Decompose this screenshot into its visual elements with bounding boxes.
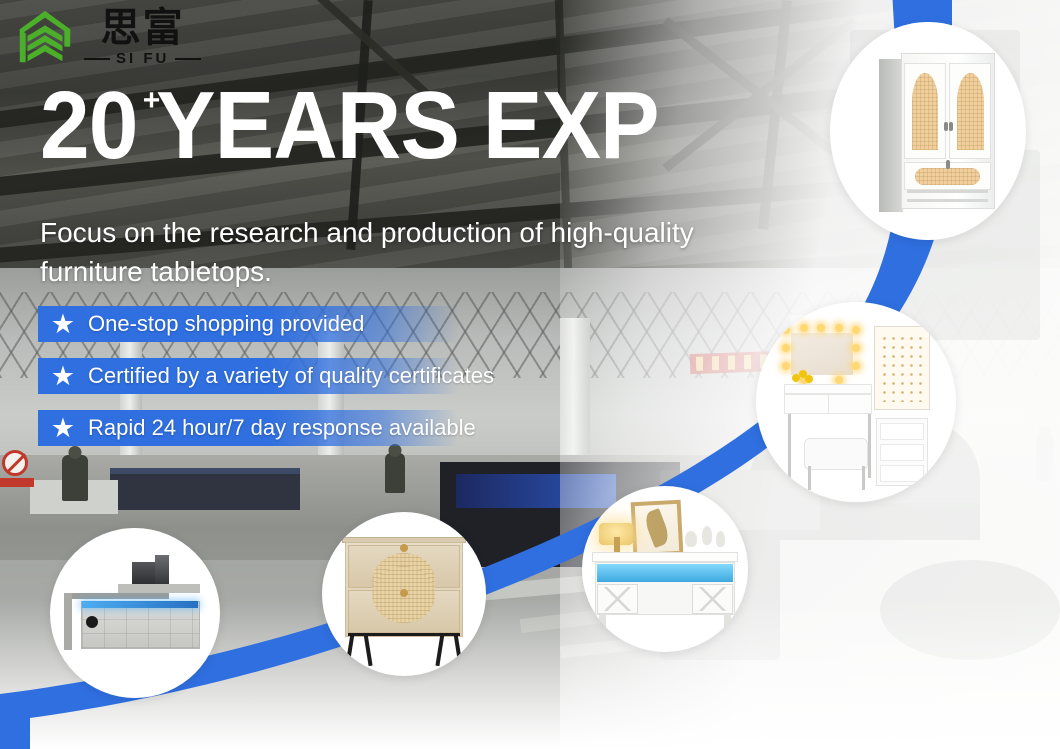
white-farmhouse-tv-stand-image [582, 486, 748, 652]
feature-item: ★ One-stop shopping provided [38, 306, 658, 342]
brand-name-en-row: SI FU [84, 51, 201, 66]
feature-label: Certified by a variety of quality certif… [88, 363, 494, 389]
product-circle-vanity[interactable] [756, 302, 956, 502]
feature-label: One-stop shopping provided [88, 311, 364, 337]
promo-banner: 思富 SI FU 20 + YEARS EXP Focus on the res… [0, 0, 1060, 749]
headline-number: 20 [40, 82, 137, 170]
star-icon: ★ [46, 415, 80, 442]
wordmark-dash-left [84, 58, 110, 60]
brand-name-cn: 思富 [101, 8, 185, 48]
rattan-shoe-cabinet-image [322, 512, 486, 676]
feature-item: ★ Certified by a variety of quality cert… [38, 358, 658, 394]
product-circle-shoe-cabinet[interactable] [322, 512, 486, 676]
wordmark-dash-right [175, 58, 201, 60]
white-rattan-wardrobe-image [830, 22, 1026, 240]
headline: 20 + YEARS EXP [40, 82, 697, 170]
feature-label: Rapid 24 hour/7 day response available [88, 415, 476, 441]
subtitle: Focus on the research and production of … [40, 214, 780, 291]
product-circle-tv-stand[interactable] [582, 486, 748, 652]
feature-item: ★ Rapid 24 hour/7 day response available [38, 410, 658, 446]
concrete-grey-led-sideboard-image [50, 528, 220, 698]
brand-wordmark: 思富 SI FU [84, 8, 201, 66]
brand-name-en: SI FU [116, 51, 169, 66]
headline-words: YEARS EXP [156, 82, 659, 170]
star-icon: ★ [46, 311, 80, 338]
feature-list: ★ One-stop shopping provided ★ Certified… [38, 306, 658, 462]
brand-logo[interactable]: 思富 SI FU [14, 6, 201, 68]
green-house-logo-icon [14, 6, 76, 68]
star-icon: ★ [46, 363, 80, 390]
white-led-makeup-vanity-image [756, 302, 956, 502]
product-circle-sideboard[interactable] [50, 528, 220, 698]
product-circle-wardrobe[interactable] [830, 22, 1026, 240]
